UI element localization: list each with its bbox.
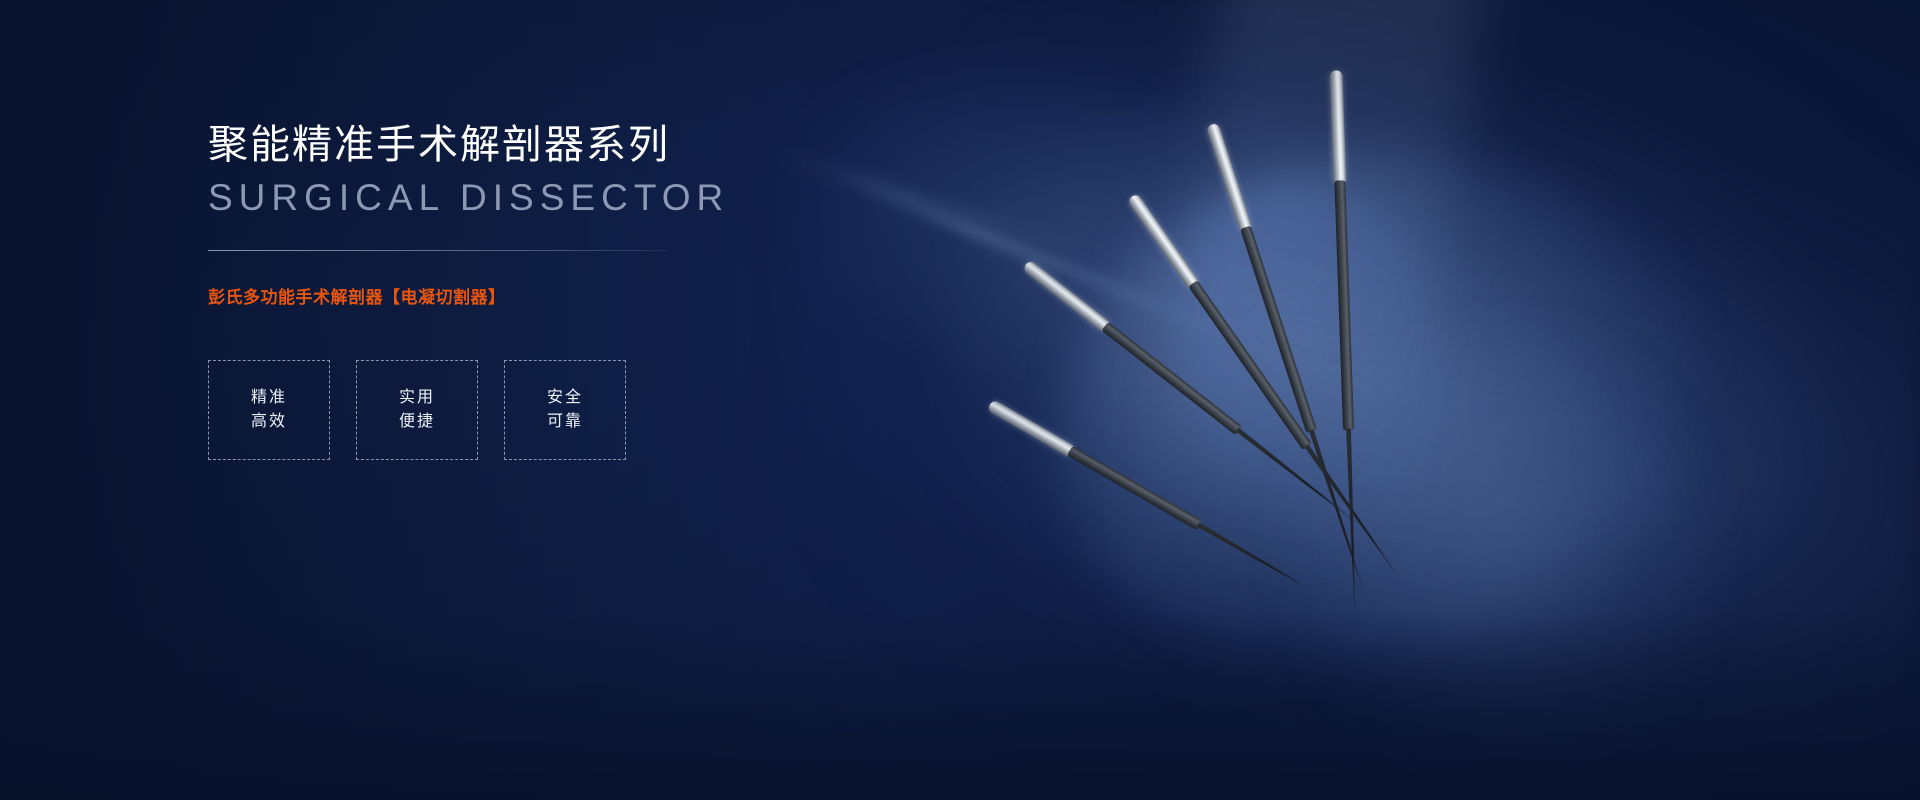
- product-hero-banner: 聚能精准手术解剖器系列 SURGICAL DISSECTOR 彭氏多功能手术解剖…: [0, 0, 1920, 800]
- hero-text-block: 聚能精准手术解剖器系列 SURGICAL DISSECTOR 彭氏多功能手术解剖…: [208, 120, 848, 460]
- feature-badge: 安全 可靠: [504, 360, 626, 460]
- page-subtitle-english: SURGICAL DISSECTOR: [208, 176, 848, 220]
- background-bottom-shade: [0, 610, 1920, 800]
- feature-badge-line1: 安全: [547, 390, 583, 407]
- feature-badge-line2: 可靠: [547, 414, 583, 431]
- product-tagline: 彭氏多功能手术解剖器【电凝切割器】: [208, 283, 848, 308]
- feature-badge-line2: 便捷: [399, 414, 435, 431]
- page-title: 聚能精准手术解剖器系列: [208, 120, 848, 170]
- feature-badge-line2: 高效: [251, 414, 287, 431]
- feature-badge-line1: 实用: [399, 390, 435, 407]
- divider: [208, 250, 668, 251]
- feature-badge-line1: 精准: [251, 390, 287, 407]
- feature-badge-list: 精准 高效 实用 便捷 安全 可靠: [208, 360, 848, 460]
- feature-badge: 精准 高效: [208, 360, 330, 460]
- feature-badge: 实用 便捷: [356, 360, 478, 460]
